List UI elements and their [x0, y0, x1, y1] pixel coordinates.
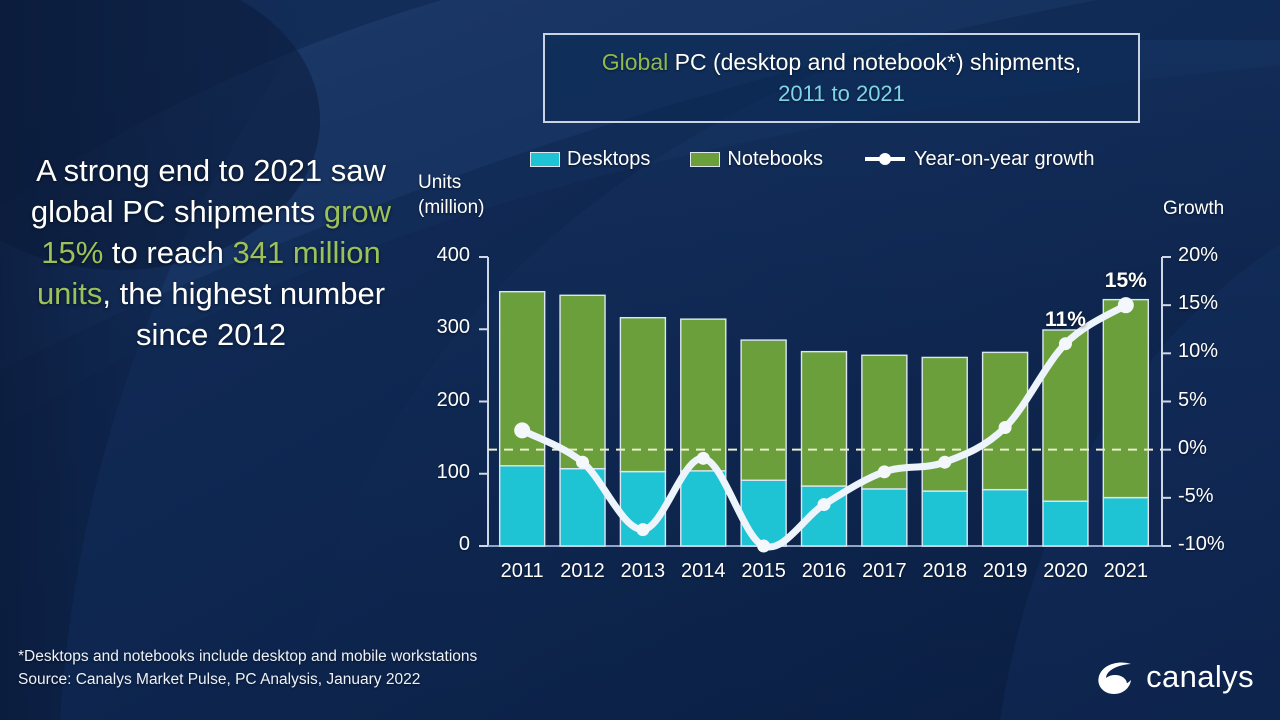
- growth-point-2020[interactable]: [1059, 337, 1072, 350]
- bar-desktops-2015[interactable]: [741, 480, 786, 546]
- growth-point-2012[interactable]: [576, 456, 589, 469]
- legend-label-growth: Year-on-year growth: [914, 148, 1094, 171]
- right-tick-label--5: -5%: [1178, 485, 1214, 508]
- bar-notebooks-2016[interactable]: [802, 352, 847, 486]
- left-tick-label-200: 200: [400, 389, 470, 412]
- left-tick-label-0: 0: [400, 533, 470, 556]
- source-text: Source: Canalys Market Pulse, PC Analysi…: [18, 668, 477, 691]
- bar-notebooks-2014[interactable]: [681, 319, 726, 471]
- left-tick-label-300: 300: [400, 316, 470, 339]
- bar-notebooks-2012[interactable]: [560, 295, 605, 468]
- legend-line-marker-icon: [863, 151, 907, 167]
- x-axis-label-2021: 2021: [1096, 560, 1156, 583]
- chart-title-global: Global: [602, 49, 668, 75]
- growth-point-2014[interactable]: [697, 452, 710, 465]
- chart-legend: Desktops Notebooks Year-on-year growth: [530, 146, 1094, 172]
- right-axis-title: Growth: [1163, 198, 1224, 220]
- growth-point-2018[interactable]: [938, 456, 951, 469]
- data-label-2020: 11%: [1038, 308, 1092, 332]
- right-tick-label-15: 15%: [1178, 292, 1218, 315]
- bar-desktops-2011[interactable]: [500, 466, 545, 546]
- x-axis-label-2012: 2012: [553, 560, 613, 583]
- right-tick-label-10: 10%: [1178, 340, 1218, 363]
- right-tick-label-0: 0%: [1178, 437, 1207, 460]
- bar-desktops-2019[interactable]: [983, 490, 1028, 546]
- headline-seg-4: , the highest number since 2012: [102, 276, 385, 352]
- left-axis-title-line2: (million): [418, 195, 485, 220]
- footer-notes: *Desktops and notebooks include desktop …: [18, 645, 477, 691]
- chart-title-box: Global PC (desktop and notebook*) shipme…: [543, 33, 1140, 123]
- growth-point-2013[interactable]: [636, 523, 649, 536]
- legend-swatch-notebooks: [690, 152, 720, 167]
- canalys-logo: canalys: [1093, 655, 1254, 699]
- right-tick-label--10: -10%: [1178, 533, 1225, 556]
- chart-title-line1: Global PC (desktop and notebook*) shipme…: [545, 45, 1138, 79]
- x-axis-label-2016: 2016: [794, 560, 854, 583]
- x-axis-label-2017: 2017: [854, 560, 914, 583]
- left-axis-title: Units (million): [418, 170, 485, 220]
- growth-point-2011[interactable]: [514, 422, 530, 438]
- x-axis-label-2011: 2011: [492, 560, 552, 583]
- chart-title-rest: PC (desktop and notebook*) shipments,: [668, 49, 1081, 75]
- legend-item-growth[interactable]: Year-on-year growth: [863, 148, 1094, 171]
- bar-desktops-2014[interactable]: [681, 471, 726, 546]
- footnote-text: *Desktops and notebooks include desktop …: [18, 645, 477, 668]
- x-axis-label-2018: 2018: [915, 560, 975, 583]
- chart-title-line2: 2011 to 2021: [545, 79, 1138, 109]
- growth-point-2019[interactable]: [999, 421, 1012, 434]
- legend-swatch-desktops: [530, 152, 560, 167]
- bar-notebooks-2013[interactable]: [620, 318, 665, 472]
- headline-seg-2: to reach: [103, 235, 232, 270]
- legend-item-desktops[interactable]: Desktops: [530, 148, 650, 171]
- canalys-mark-icon: [1093, 655, 1137, 699]
- right-tick-label-5: 5%: [1178, 389, 1207, 412]
- legend-label-desktops: Desktops: [567, 148, 650, 171]
- x-axis-label-2014: 2014: [673, 560, 733, 583]
- left-tick-label-100: 100: [400, 461, 470, 484]
- x-axis-label-2019: 2019: [975, 560, 1035, 583]
- headline-text: A strong end to 2021 saw global PC shipm…: [16, 150, 406, 355]
- x-axis-label-2015: 2015: [734, 560, 794, 583]
- bar-desktops-2021[interactable]: [1103, 498, 1148, 546]
- right-axis-ticks: [1162, 257, 1171, 546]
- legend-item-notebooks[interactable]: Notebooks: [690, 148, 823, 171]
- bar-notebooks-2019[interactable]: [983, 352, 1028, 489]
- growth-point-2021[interactable]: [1118, 297, 1134, 313]
- x-axis-label-2020: 2020: [1035, 560, 1095, 583]
- bar-notebooks-2018[interactable]: [922, 357, 967, 491]
- bar-notebooks-2020[interactable]: [1043, 330, 1088, 501]
- left-tick-label-400: 400: [400, 244, 470, 267]
- growth-point-2017[interactable]: [878, 465, 891, 478]
- left-axis-title-line1: Units: [418, 170, 485, 195]
- growth-point-2016[interactable]: [818, 498, 831, 511]
- legend-label-notebooks: Notebooks: [727, 148, 823, 171]
- bar-notebooks-2021[interactable]: [1103, 300, 1148, 498]
- x-axis-label-2013: 2013: [613, 560, 673, 583]
- bar-desktops-2017[interactable]: [862, 489, 907, 546]
- growth-point-2015[interactable]: [757, 540, 770, 553]
- bar-desktops-2018[interactable]: [922, 491, 967, 546]
- bar-notebooks-2015[interactable]: [741, 340, 786, 480]
- right-tick-label-20: 20%: [1178, 244, 1218, 267]
- data-label-2021: 15%: [1099, 269, 1153, 293]
- bar-desktops-2020[interactable]: [1043, 501, 1088, 546]
- canalys-wordmark: canalys: [1146, 659, 1254, 695]
